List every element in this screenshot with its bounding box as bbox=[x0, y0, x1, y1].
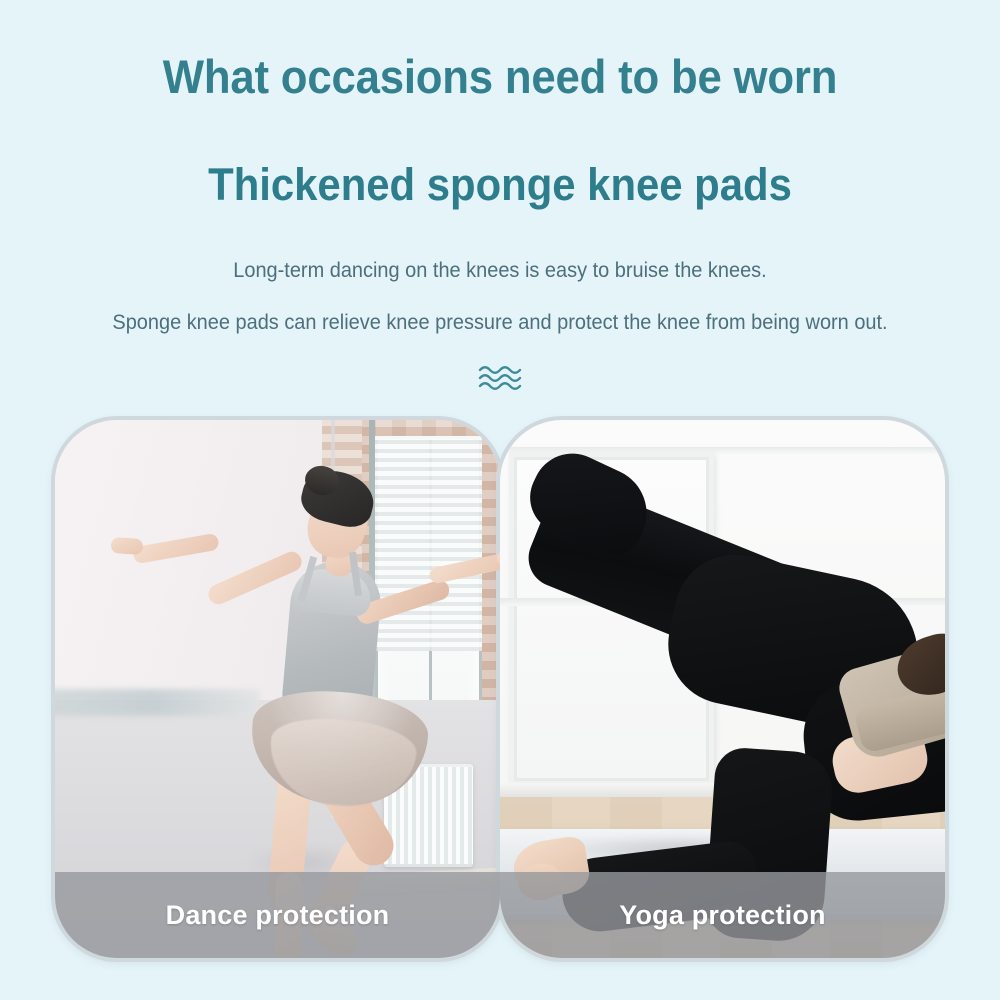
divider bbox=[0, 363, 1000, 397]
subtitle-line-2: Sponge knee pads can relieve knee pressu… bbox=[25, 309, 975, 337]
scenario-card-yoga[interactable]: Yoga protection bbox=[500, 420, 945, 958]
yoga-caption-label: Yoga protection bbox=[619, 900, 826, 931]
yoga-caption-band: Yoga protection bbox=[500, 872, 945, 958]
scenario-card-dance[interactable]: Dance protection bbox=[55, 420, 500, 958]
subtitle-block: Long-term dancing on the knees is easy t… bbox=[0, 257, 1000, 338]
scenario-cards: Dance protection bbox=[55, 420, 945, 958]
page-title-line1: What occasions need to be worn bbox=[35, 52, 965, 101]
triple-wave-icon bbox=[478, 363, 522, 393]
dance-caption-label: Dance protection bbox=[166, 900, 390, 931]
headings-block: What occasions need to be worn Thickened… bbox=[0, 0, 1000, 209]
page-title-line2: Thickened sponge knee pads bbox=[35, 161, 965, 208]
subtitle-line-1: Long-term dancing on the knees is easy t… bbox=[25, 257, 975, 285]
dance-caption-band: Dance protection bbox=[55, 872, 500, 958]
